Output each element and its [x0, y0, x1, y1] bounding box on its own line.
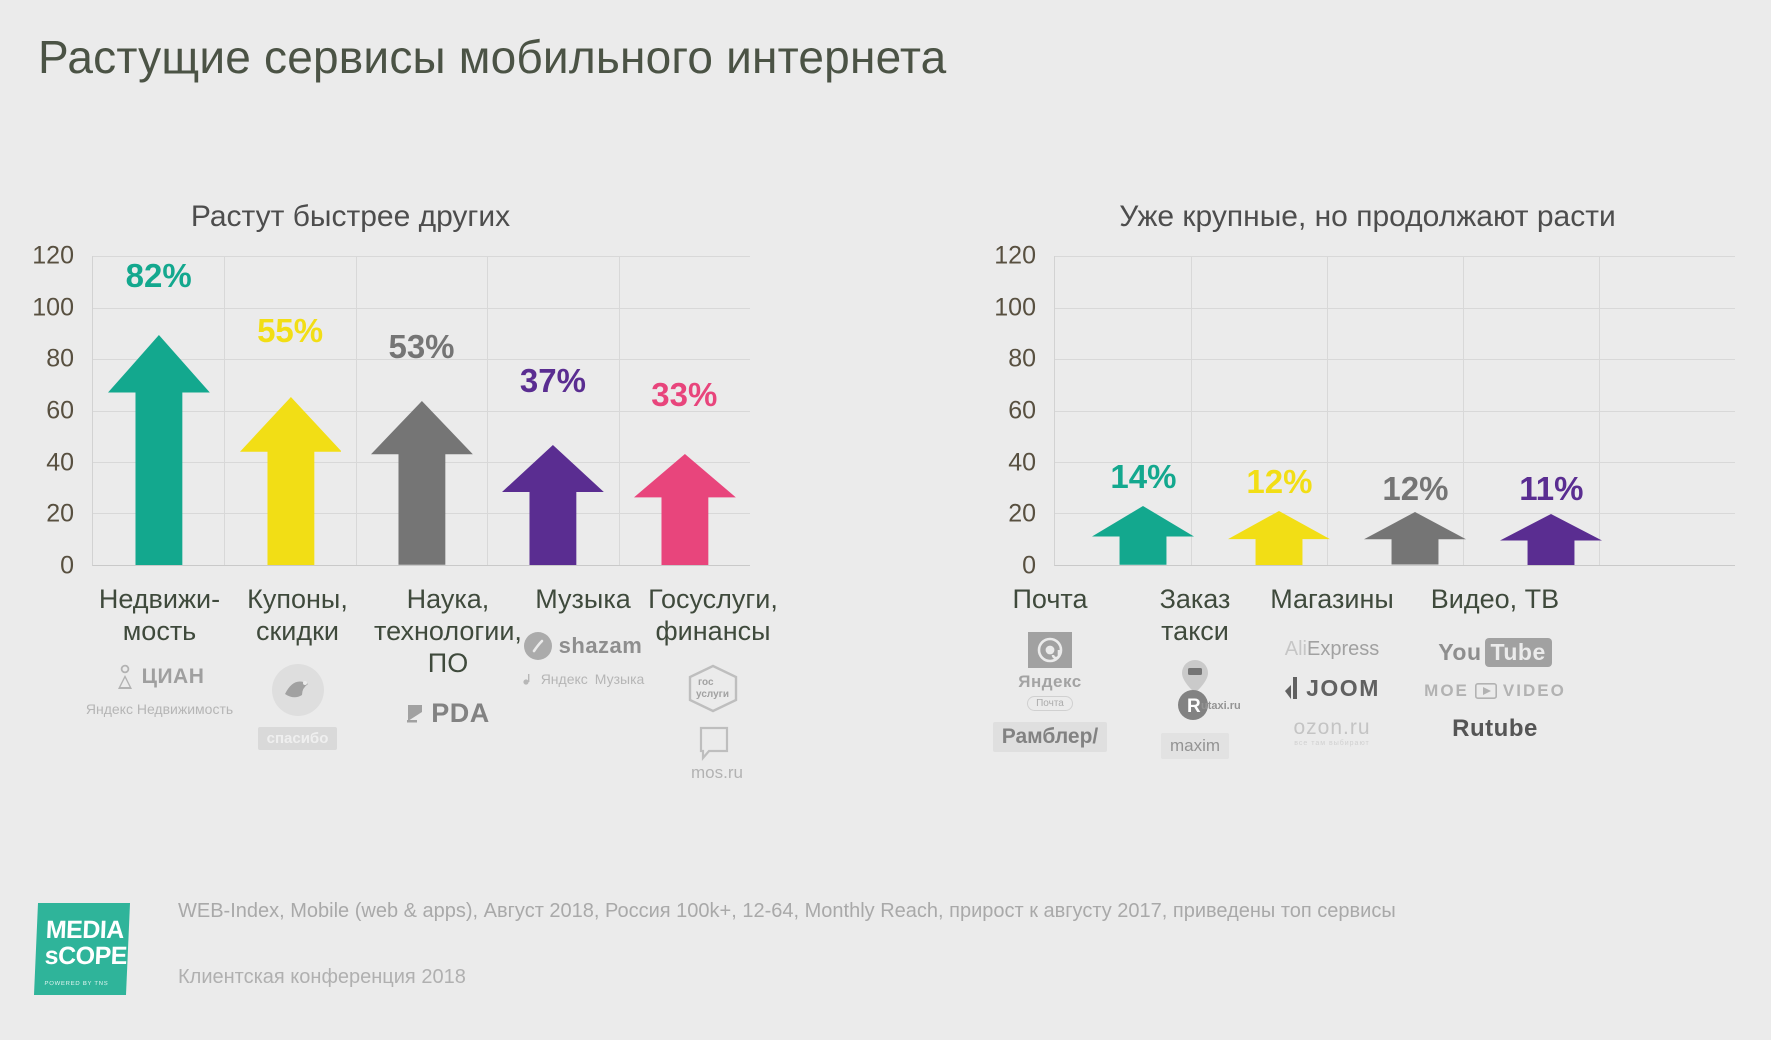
ozon-logo: ozon.ru все там выбирают: [1293, 716, 1370, 747]
category-video: Видео, ТВ You Tube MOE VIDEO Rutube: [1410, 584, 1580, 743]
y-tick-60: 60: [1008, 399, 1036, 424]
panel-growing-fastest: Растут быстрее других 120 100 80 60 40 2…: [18, 200, 863, 884]
value-label-1: 12%: [1246, 465, 1312, 498]
youtube-tube: Tube: [1485, 638, 1552, 667]
y-tick-100: 100: [32, 295, 74, 320]
plot-grid-left: 82% 55% 53% 37% 33%: [92, 256, 750, 566]
arrow-bar-0: [1092, 506, 1194, 565]
category-label: Музыка: [508, 584, 658, 616]
y-tick-0: 0: [1022, 554, 1036, 579]
plot-grid-right: 14% 12% 12% 11%: [1054, 256, 1735, 566]
cian-label: ЦИАН: [142, 665, 205, 689]
value-label-0: 14%: [1110, 460, 1176, 493]
category-coupons: Купоны, скидки спасибо: [230, 584, 365, 750]
logo-group: гос услуги mos.ru: [638, 664, 788, 781]
value-label-3: 11%: [1519, 472, 1583, 505]
value-label-2: 53%: [388, 330, 454, 363]
mosru-label: mos.ru: [691, 763, 743, 783]
chart-left: 120 100 80 60 40 20 0 82%: [18, 256, 863, 566]
panel-title-left: Растут быстрее других: [18, 200, 863, 234]
pda-logo: PDA: [406, 698, 490, 729]
category-realty: Недвижи- мость ЦИАН Яндекс Недвижимость: [92, 584, 227, 717]
arrow-bar-1: [240, 397, 342, 565]
categories-left: Недвижи- мость ЦИАН Яндекс Недвижимость …: [18, 584, 863, 884]
mosru-logo: mos.ru: [683, 725, 743, 781]
y-tick-20: 20: [46, 502, 74, 527]
joom-mark-icon: [1284, 677, 1299, 699]
arrow-bar-0: [108, 335, 210, 565]
arrow-bar-1: [1228, 511, 1330, 565]
panel-already-large: Уже крупные, но продолжают расти 120 100…: [980, 200, 1755, 884]
arrow-bar-3: [1500, 514, 1602, 565]
yandex-label: Яндекс: [1018, 672, 1081, 692]
mediascope-line2: sCOPE: [44, 942, 128, 971]
youtube-logo: You Tube: [1438, 638, 1551, 667]
y-tick-120: 120: [32, 244, 74, 269]
arrow-bar-3: [502, 445, 604, 566]
rutube-logo: Rutube: [1452, 715, 1538, 743]
y-tick-40: 40: [46, 450, 74, 475]
shazam-label: shazam: [559, 633, 643, 659]
taxi-pin-icon: R: [1163, 656, 1227, 722]
footer-source: WEB-Index, Mobile (web & apps), Август 2…: [178, 900, 1396, 923]
youtube-you: You: [1438, 639, 1481, 666]
logo-group: shazam Яндекс Музыка: [508, 632, 658, 687]
pda-label: PDA: [431, 698, 490, 729]
y-tick-60: 60: [46, 399, 74, 424]
category-gosuslugi: Госуслуги, финансы гос услуги mos.ru: [638, 584, 788, 781]
category-label: Купоны, скидки: [230, 584, 365, 648]
spasibo-logo: спасибо: [258, 727, 338, 750]
shazam-logo: shazam: [524, 632, 643, 660]
maxim-logo: maxim: [1161, 733, 1229, 759]
category-label: Магазины: [1252, 584, 1412, 616]
arrow-bar-2: [371, 401, 473, 565]
arrow-bar-2: [1364, 512, 1466, 565]
slide: Растущие сервисы мобильного интернета Ра…: [0, 0, 1771, 1040]
category-science: Наука, технологии, ПО PDA: [368, 584, 528, 729]
y-tick-0: 0: [60, 554, 74, 579]
category-label: Видео, ТВ: [1410, 584, 1580, 616]
yandex-mail-logo: Яндекс Почта: [1018, 632, 1081, 711]
gosuslugi-logo: гос услуги: [686, 664, 740, 714]
pochta-chip: Почта: [1027, 696, 1073, 711]
note-icon: [522, 673, 534, 685]
ali-text: Ali: [1285, 638, 1307, 660]
y-tick-40: 40: [1008, 450, 1036, 475]
arrow-bar-4: [634, 454, 736, 565]
svg-text:R: R: [1187, 696, 1201, 717]
logo-group: AliExpress JOOM ozon.ru все там выбирают: [1252, 638, 1412, 747]
rutaxi-rest: utaxi.ru: [1201, 700, 1241, 712]
y-tick-120: 120: [994, 244, 1036, 269]
page-title: Растущие сервисы мобильного интернета: [38, 30, 946, 84]
footer-conference: Клиентская конференция 2018: [178, 966, 466, 989]
category-label: Госуслуги, финансы: [638, 584, 788, 648]
y-axis-right: 120 100 80 60 40 20 0: [980, 256, 1042, 566]
rutaxi-logo: R utaxi.ru: [1163, 656, 1227, 722]
rambler-logo: Рамблер/: [993, 722, 1108, 752]
yandex-music-logo: Яндекс Музыка: [522, 671, 645, 687]
panel-title-right: Уже крупные, но продолжают расти: [980, 200, 1755, 234]
category-music: Музыка shazam Яндекс Музыка: [508, 584, 658, 687]
cian-logo: ЦИАН: [115, 664, 205, 690]
moevideo-logo: MOE VIDEO: [1424, 681, 1566, 701]
shazam-icon: [524, 632, 552, 660]
joom-logo: JOOM: [1284, 675, 1380, 702]
logo-group: R utaxi.ru maxim: [1120, 656, 1270, 759]
value-label-1: 55%: [257, 314, 323, 347]
play-icon: [1475, 683, 1497, 699]
category-mail: Почта Яндекс Почта Рамблер/: [970, 584, 1130, 752]
yandex-music-word2: Музыка: [595, 671, 645, 687]
chart-right: 120 100 80 60 40 20 0 14% 12%: [980, 256, 1755, 566]
video-text: VIDEO: [1503, 681, 1566, 701]
value-label-2: 12%: [1382, 472, 1448, 505]
at-icon: [1028, 632, 1072, 668]
express-text: Express: [1307, 638, 1379, 660]
category-label: Наука, технологии, ПО: [368, 584, 528, 680]
mediascope-tagline: POWERED BY TNS: [44, 981, 108, 987]
moe-text: MOE: [1424, 681, 1469, 701]
joom-label: JOOM: [1306, 675, 1380, 702]
value-label-4: 33%: [651, 378, 717, 411]
pda-mark-icon: [406, 703, 424, 723]
category-label: Почта: [970, 584, 1130, 616]
logo-group: спасибо: [230, 664, 365, 750]
y-tick-80: 80: [1008, 347, 1036, 372]
category-label: Заказ такси: [1120, 584, 1270, 648]
y-tick-20: 20: [1008, 502, 1036, 527]
category-taxi: Заказ такси R utaxi.ru maxim: [1120, 584, 1270, 759]
y-tick-80: 80: [46, 347, 74, 372]
categories-right: Почта Яндекс Почта Рамблер/ Заказ такси: [980, 584, 1755, 884]
yandex-realty-logo: Яндекс Недвижимость: [86, 701, 233, 717]
sberbank-spasibo-mark: [272, 664, 324, 716]
mediascope-line1: MEDIA: [45, 916, 124, 945]
logo-group: You Tube MOE VIDEO Rutube: [1410, 638, 1580, 743]
aliexpress-logo: AliExpress: [1285, 638, 1379, 661]
value-label-3: 37%: [520, 364, 586, 397]
y-tick-100: 100: [994, 295, 1036, 320]
logo-group: Яндекс Почта Рамблер/: [970, 632, 1130, 752]
category-shops: Магазины AliExpress JOOM ozon.ru все там…: [1252, 584, 1412, 747]
pin-icon: [115, 664, 135, 690]
mosru-mark-icon: [683, 725, 743, 765]
category-label: Недвижи- мость: [92, 584, 227, 648]
logo-group: PDA: [368, 698, 528, 729]
yandex-music-word: Яндекс: [541, 671, 588, 687]
uslugi-text: услуги: [696, 689, 729, 700]
y-axis-left: 120 100 80 60 40 20 0: [18, 256, 80, 566]
mediascope-logo: MEDIA sCOPE POWERED BY TNS: [34, 903, 130, 995]
ozon-sub: все там выбирают: [1293, 740, 1370, 747]
gos-text: гос: [698, 677, 714, 688]
value-label-0: 82%: [126, 259, 192, 292]
ozon-label: ozon.ru: [1293, 716, 1370, 740]
logo-group: ЦИАН Яндекс Недвижимость: [92, 664, 227, 717]
